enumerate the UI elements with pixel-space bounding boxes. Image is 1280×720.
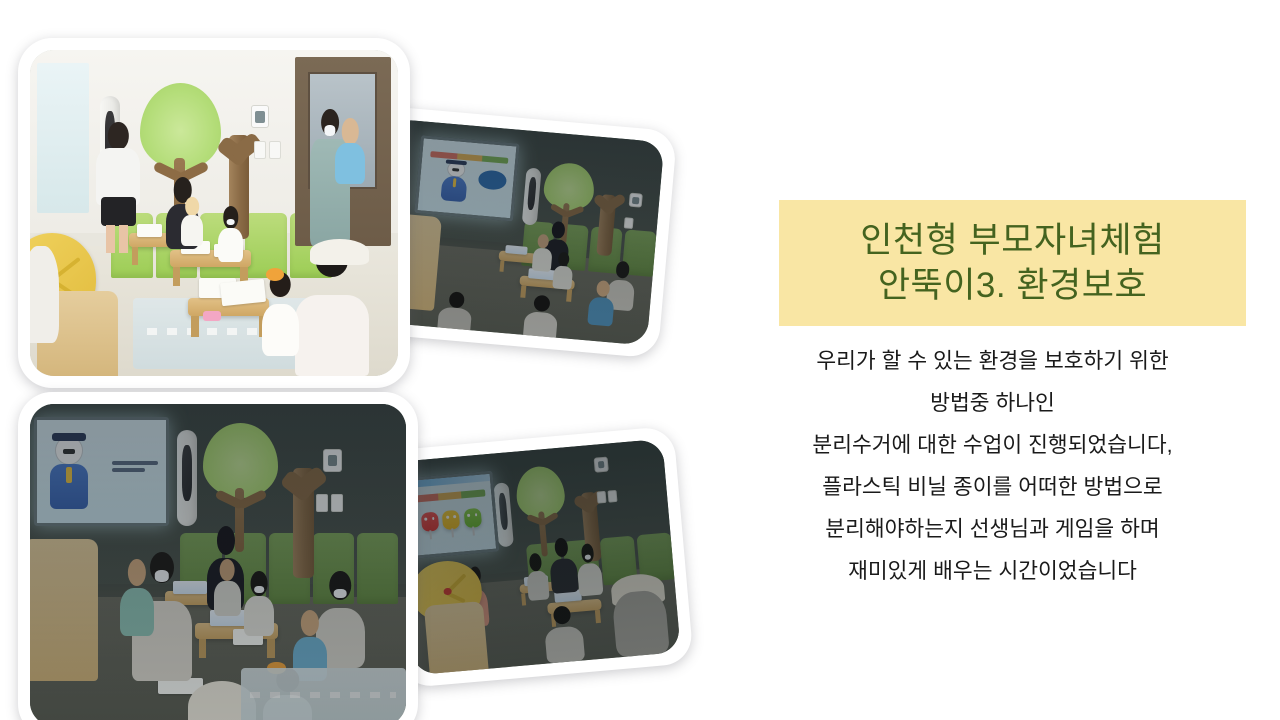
head (342, 118, 358, 144)
head (553, 606, 572, 625)
title-banner: 인천형 부모자녀체험 안뚝이3. 환경보호 (779, 200, 1246, 326)
head (448, 292, 465, 309)
speech-bubble (478, 169, 508, 190)
light-switch (597, 491, 607, 503)
person-foreground-child (262, 272, 299, 357)
light-switch (269, 141, 281, 159)
person-foreground-adult (295, 246, 369, 376)
cardboard-prop (424, 601, 489, 676)
mascot-character (439, 160, 470, 202)
thermostat (251, 105, 269, 128)
torso (437, 306, 472, 334)
photo-top-left[interactable] (18, 38, 410, 388)
person-child (575, 543, 603, 596)
person-baby (335, 118, 364, 183)
mascot-tie (66, 467, 71, 483)
person-partial (30, 246, 59, 344)
card-stick (430, 531, 433, 540)
body-line-2: 방법중 하나인 (720, 382, 1265, 424)
pink-object (203, 311, 221, 321)
worksheet (137, 224, 163, 237)
person-child (244, 571, 274, 635)
slide-canvas: 인천형 부모자녀체험 안뚝이3. 환경보호 우리가 할 수 있는 환경을 보호하… (0, 0, 1280, 720)
torso (523, 311, 558, 342)
card-stick (451, 529, 454, 538)
leg (119, 225, 128, 254)
light-switch (624, 217, 634, 229)
head (108, 122, 128, 151)
thermostat (594, 456, 609, 472)
photo-bottom-right-image (395, 439, 681, 676)
body-line-4: 플라스틱 비닐 종이를 어떠한 방법으로 (720, 466, 1265, 508)
head (615, 261, 630, 279)
photo-top-left-image (30, 50, 398, 376)
torso (552, 266, 573, 290)
face-mask (324, 125, 335, 136)
light-switch (254, 141, 266, 159)
classroom-scene-recycling-game (395, 439, 681, 676)
person-foreground-child (542, 605, 584, 664)
recycling-card-yellow (442, 510, 460, 530)
title-line-1: 인천형 부모자녀체험 (860, 218, 1165, 264)
air-conditioner (177, 430, 198, 527)
head (558, 252, 570, 267)
light-switch (608, 490, 618, 502)
torso (531, 247, 552, 271)
person-foreground (437, 291, 474, 335)
torso (588, 296, 615, 326)
recycling-cards (418, 508, 485, 545)
head (217, 526, 235, 554)
person-child (181, 197, 203, 246)
head (534, 295, 551, 312)
head (529, 552, 543, 571)
projector-screen (414, 135, 520, 221)
torso (611, 589, 670, 658)
head (301, 610, 319, 635)
person-teacher (96, 122, 140, 252)
body-line-3: 분리수거에 대한 수업이 진행되었습니다, (720, 424, 1265, 466)
photo-bottom-left[interactable] (18, 392, 418, 720)
body-text: 우리가 할 수 있는 환경을 보호하기 위한 방법중 하나인 분리수거에 대한 … (720, 340, 1265, 592)
tree-canopy (203, 423, 278, 498)
person-foreground (523, 294, 560, 342)
torso (526, 570, 550, 601)
head (554, 537, 568, 557)
title-line-2: 안뚝이3. 환경보호 (878, 263, 1147, 309)
thermostat (628, 193, 643, 208)
window (37, 63, 89, 213)
thermostat (323, 449, 342, 472)
person-toddler (120, 559, 154, 636)
head (223, 206, 238, 228)
mascot-head (55, 436, 83, 465)
torso (218, 228, 244, 262)
face-mask (584, 554, 591, 560)
light-switch (316, 494, 328, 511)
person-child (214, 559, 240, 617)
torso (214, 581, 240, 617)
torso (549, 558, 579, 595)
person-child (531, 233, 553, 271)
classroom-scene-greeting (30, 404, 406, 720)
white-cap (310, 239, 369, 265)
head (596, 280, 611, 297)
classroom-scene-bright (30, 50, 398, 376)
cardboard-prop (30, 539, 98, 681)
head (537, 234, 549, 249)
torso (576, 563, 603, 597)
person-child (552, 252, 574, 290)
tree-post-decoration (293, 468, 314, 577)
person-baby (588, 279, 617, 326)
card-stick (473, 527, 476, 536)
photo-top-right-image (372, 118, 665, 345)
face-mask (334, 589, 347, 599)
light-switch (331, 494, 343, 511)
play-mat (241, 668, 406, 720)
torso (262, 304, 299, 357)
text-column: 인천형 부모자녀체험 안뚝이3. 환경보호 우리가 할 수 있는 환경을 보호하… (700, 0, 1280, 720)
torso (181, 215, 203, 245)
person-foreground-adult (611, 589, 670, 658)
face-mask (255, 586, 265, 594)
face-mask (226, 219, 235, 226)
tree-canopy (140, 83, 221, 170)
recycling-card-red (421, 512, 439, 532)
torso (335, 143, 364, 183)
skirt (101, 197, 136, 226)
head (220, 559, 235, 581)
classroom-scene-projection (372, 118, 665, 345)
body-line-6: 재미있게 배우는 시간이었습니다 (720, 550, 1265, 592)
slide-title-bar (413, 490, 485, 503)
head (128, 559, 146, 587)
photo-collage (0, 0, 700, 720)
head (185, 197, 199, 217)
person-child (218, 206, 244, 261)
torso (544, 626, 584, 664)
body-line-1: 우리가 할 수 있는 환경을 보호하기 위한 (720, 340, 1265, 382)
torso (295, 295, 369, 376)
projector-screen (34, 417, 169, 526)
leg (106, 225, 115, 254)
photo-bottom-right[interactable] (382, 426, 694, 689)
greeting-text (112, 455, 159, 478)
mascot-character (47, 436, 91, 508)
body-line-5: 분리해야하는지 선생님과 게임을 하며 (720, 508, 1265, 550)
torso (120, 588, 154, 636)
recycling-card-green (464, 508, 482, 528)
face-mask (154, 570, 168, 582)
torso (244, 596, 274, 636)
torso (30, 246, 59, 344)
person-child (524, 552, 549, 601)
photo-bottom-left-image (30, 404, 406, 720)
